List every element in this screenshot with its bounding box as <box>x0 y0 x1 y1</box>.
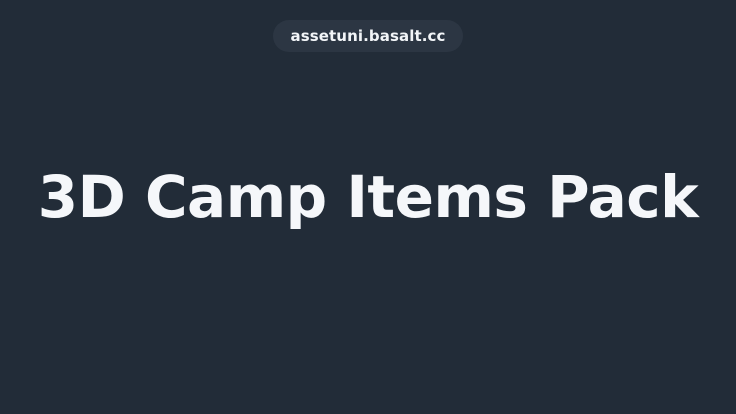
domain-badge[interactable]: assetuni.basalt.cc <box>273 20 462 52</box>
page-root: assetuni.basalt.cc 3D Camp Items Pack <box>0 0 736 414</box>
domain-badge-label: assetuni.basalt.cc <box>290 29 445 44</box>
badge-row: assetuni.basalt.cc <box>0 20 736 52</box>
page-title: 3D Camp Items Pack <box>38 168 698 226</box>
empty-content-area <box>0 250 736 414</box>
hero-section: 3D Camp Items Pack <box>0 168 736 226</box>
